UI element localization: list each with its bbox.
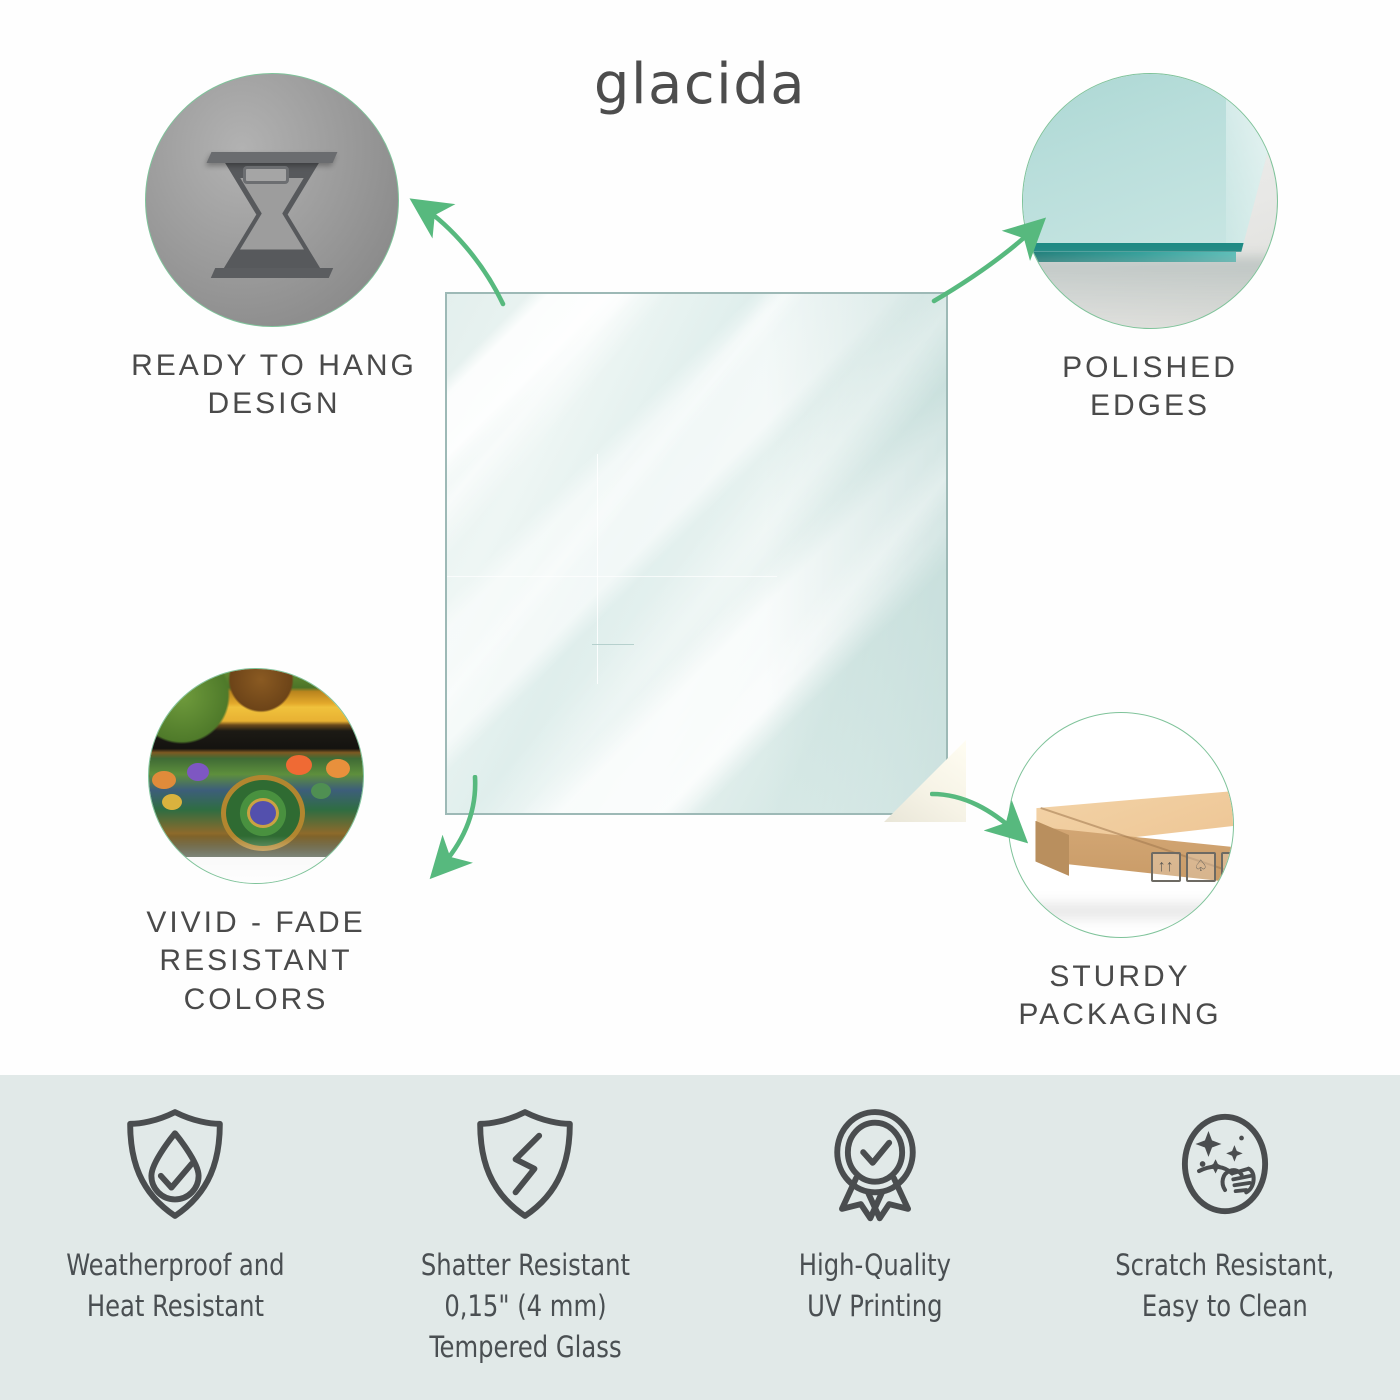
edge-shadow xyxy=(1022,257,1277,329)
glass-pane-line xyxy=(597,454,598,684)
feature-vivid-colors: VIVID - FADE RESISTANT COLORS xyxy=(148,668,364,1019)
glass-shade xyxy=(766,294,946,813)
box-shadow xyxy=(1027,905,1220,917)
glass-edge-photo xyxy=(1022,73,1278,329)
bottom-feature-label: High-Quality UV Printing xyxy=(799,1245,951,1327)
bracket-illustration xyxy=(207,138,337,278)
hanging-bracket-photo xyxy=(145,73,399,327)
bottom-feature-label: Scratch Resistant, Easy to Clean xyxy=(1115,1245,1334,1327)
feature-caption-vivid-colors: VIVID - FADE RESISTANT COLORS xyxy=(46,904,466,1019)
bottom-feature-bar: Weatherproof and Heat Resistant Shatter … xyxy=(0,1075,1400,1400)
glass-reflection-streak xyxy=(445,292,738,815)
mosaic-pebble xyxy=(326,759,350,778)
glass-pane-line xyxy=(447,576,777,577)
bottom-feature-weatherproof: Weatherproof and Heat Resistant xyxy=(0,1075,350,1400)
bottom-feature-label: Shatter Resistant 0,15" (4 mm) Tempered … xyxy=(420,1245,629,1369)
infographic-stage: glacida READY TO HANG DESIGN xyxy=(0,0,1400,1075)
mosaic-pebble xyxy=(286,755,312,775)
bottom-feature-shatter-resistant: Shatter Resistant 0,15" (4 mm) Tempered … xyxy=(350,1075,700,1400)
mosaic-pebble xyxy=(311,783,331,799)
stained-glass-artwork-photo xyxy=(148,668,364,884)
bottom-feature-uv-printing: High-Quality UV Printing xyxy=(700,1075,1050,1400)
artwork-glare xyxy=(149,836,363,883)
mosaic-pebble xyxy=(162,794,182,810)
peeled-corner-detail xyxy=(884,740,966,822)
mosaic-pebble xyxy=(152,771,176,789)
award-ribbon-check-icon xyxy=(816,1105,934,1223)
feature-caption-polished-edges: POLISHED EDGES xyxy=(1010,349,1290,426)
bottom-feature-label: Weatherproof and Heat Resistant xyxy=(66,1245,284,1327)
feature-caption-sturdy-packaging: STURDY PACKAGING xyxy=(960,958,1280,1035)
this-way-up-stamp-icon: ↑↑ xyxy=(1151,852,1181,882)
glass-sheet-illustration xyxy=(1022,73,1278,252)
feature-ready-to-hang: READY TO HANG DESIGN xyxy=(145,73,405,424)
sparkle-hand-clean-icon xyxy=(1166,1105,1284,1223)
shield-lightning-bolt-icon xyxy=(466,1105,584,1223)
peel-triangle xyxy=(884,740,966,822)
feature-polished-edges: POLISHED EDGES xyxy=(1022,73,1278,426)
cardboard-box-illustration: ↑↑ ♤ ☂ xyxy=(1008,712,1234,938)
packaging-stamps: ↑↑ ♤ ☂ xyxy=(1151,852,1234,882)
feature-sturdy-packaging: ↑↑ ♤ ☂ STURDY PACKAGING xyxy=(1008,712,1234,1035)
mosaic-artwork xyxy=(148,668,364,857)
feature-caption-ready-to-hang: READY TO HANG DESIGN xyxy=(129,347,419,424)
mosaic-pebble xyxy=(187,763,209,781)
glass-pane-line xyxy=(592,644,634,645)
box-shape: ↑↑ ♤ ☂ xyxy=(1022,789,1234,888)
bottom-feature-scratch-resistant: Scratch Resistant, Easy to Clean xyxy=(1050,1075,1400,1400)
fragile-glass-stamp-icon: ♤ xyxy=(1186,852,1216,882)
tempered-glass-panel xyxy=(445,292,948,815)
shield-water-drop-check-icon xyxy=(116,1105,234,1223)
keep-dry-stamp-icon: ☂ xyxy=(1221,852,1234,882)
